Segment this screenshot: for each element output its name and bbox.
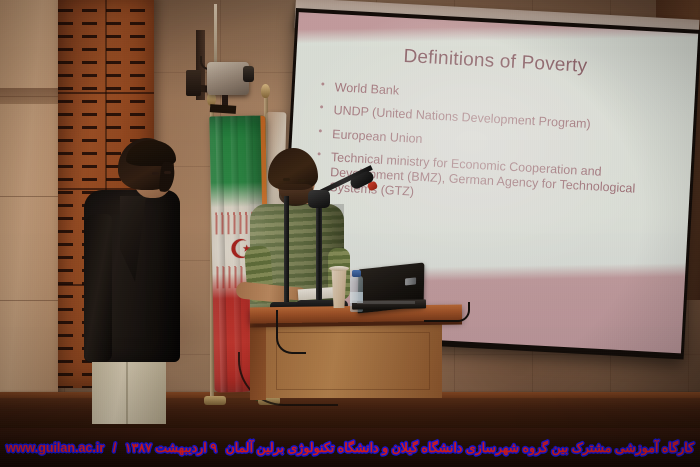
paper-cup-rim [329,266,349,271]
microphone-pole [316,194,322,306]
presenter-eye [298,179,305,182]
laptop-keyboard[interactable] [357,301,415,304]
attendee-sleeve [84,214,112,362]
projector-lens [243,66,254,82]
bottle-cap [352,270,361,277]
attendee-eye [164,171,171,174]
slide-title: Definitions of Poverty [310,41,681,83]
microphone-pole-secondary [284,196,289,308]
projector-foot [210,104,236,114]
flagpole-finial [261,84,270,98]
projector-junction-box [186,70,201,96]
slide-bullet-list: World Bank UNDP (United Nations Developm… [303,79,679,214]
caption-bar: کارگاه آموزشی مشترک بین گروه شهرسازی دان… [0,428,700,467]
stone-pilaster [0,0,58,420]
laptop-logo [405,277,416,285]
desk-cable [276,310,306,354]
caption-separator: / [113,441,116,455]
microphone-clamp [308,190,330,208]
projector-support-rod [214,4,217,64]
podium-side-panel [250,322,266,400]
photo-scene: Definitions of Poverty World Bank UNDP (… [0,0,700,467]
caption-date: ۹ اردیبهشت ۱۳۸۷ [125,440,217,455]
caption-url[interactable]: www.guilan.ac.ir [6,441,104,455]
flag-stand-base [204,396,226,405]
laptop-cable [424,302,470,322]
caption-text-row: کارگاه آموزشی مشترک بین گروه شهرسازی دان… [0,440,700,455]
caption-event-text: کارگاه آموزشی مشترک بین گروه شهرسازی دان… [226,440,694,455]
presenter-eye [283,178,290,181]
attendee-eye [152,172,159,175]
